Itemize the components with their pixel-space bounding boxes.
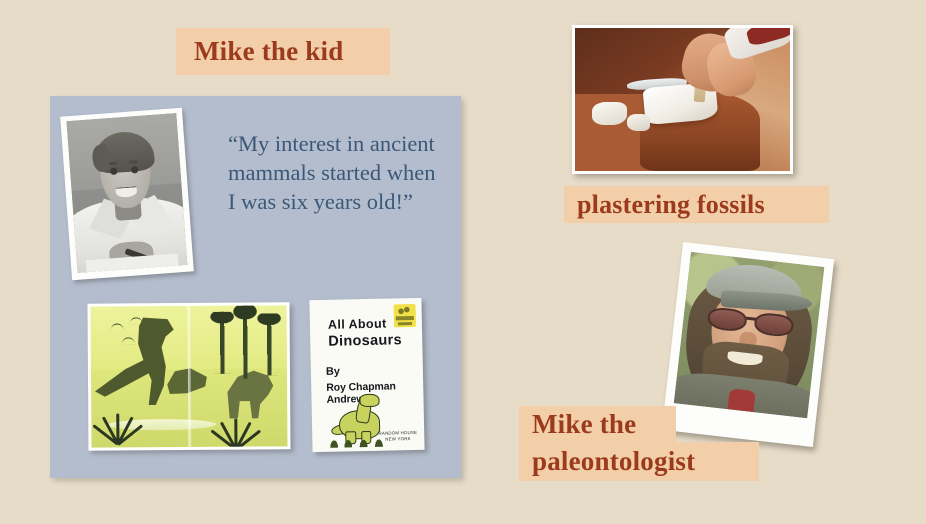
portrait-collar [727, 388, 756, 412]
photo-paleontologist [662, 242, 834, 447]
book-publisher: RANDOM HOUSE NEW YORK [378, 430, 417, 443]
pterosaur-icon [110, 323, 123, 330]
dinosaur-spread-inner [91, 305, 288, 447]
label-mike-the-kid: Mike the kid [176, 28, 390, 75]
fern-plant [95, 414, 138, 445]
photo-boy-frame [67, 113, 188, 273]
label-mike-the-paleontologist-line2: paleontologist [519, 442, 759, 481]
book-title-line2: Dinosaurs [328, 332, 402, 350]
book-cover-all-about-dinosaurs: All About Dinosaurs By Roy Chapman Andre… [309, 298, 424, 452]
book-publisher-line2: NEW YORK [379, 436, 418, 443]
fossil-plaster-patch [627, 114, 651, 131]
beginner-books-logo-icon [394, 304, 416, 327]
fossil-plaster-patch [592, 102, 626, 125]
book-by-label: By [326, 366, 340, 378]
photo-boy [60, 108, 194, 280]
slide-canvas: Mike the kid “My interest in ancient mam… [0, 0, 926, 524]
dinosaur-spread-image [87, 302, 290, 450]
label-mike-the-paleontologist-line1: Mike the [519, 406, 676, 442]
fern-plant [213, 418, 256, 447]
photo-paleontologist-inner [674, 252, 824, 418]
book-title-line1: All About [328, 317, 387, 332]
photo-plastering-fossils [572, 25, 793, 174]
photo-fossil-inner [575, 28, 790, 171]
quote-text: “My interest in ancient mammals started … [228, 129, 443, 216]
label-plastering-fossils: plastering fossils [564, 186, 829, 223]
palm-tree [251, 314, 287, 376]
